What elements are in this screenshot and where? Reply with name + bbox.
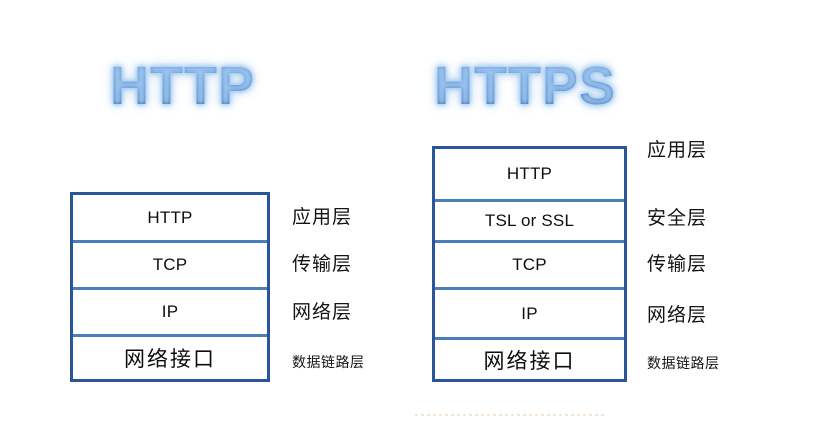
https-protocol-stack: HTTP TSL or SSL TCP IP 网络接口 [432, 146, 627, 382]
layer-label-https-application: 应用层 [647, 141, 707, 160]
layer-label-http-datalink: 数据链路层 [292, 356, 365, 370]
stack-row-https-datalink: 网络接口 [435, 340, 624, 379]
stack-row-http-transport: TCP [73, 243, 267, 290]
layer-label-https-security: 安全层 [647, 209, 707, 228]
http-diagram-title: HTTP [110, 59, 255, 113]
stack-row-http-application: HTTP [73, 195, 267, 243]
layer-label-https-network: 网络层 [647, 306, 707, 325]
http-protocol-stack: HTTP TCP IP 网络接口 [70, 192, 270, 382]
stack-row-https-network: IP [435, 290, 624, 340]
stack-row-http-datalink: 网络接口 [73, 337, 267, 379]
stack-row-https-security: TSL or SSL [435, 202, 624, 243]
layer-label-http-network: 网络层 [292, 303, 352, 322]
layer-label-https-transport: 传输层 [647, 255, 707, 274]
https-diagram-title: HTTPS [434, 59, 616, 113]
diagram-canvas: HTTP HTTPS HTTP TCP IP 网络接口 应用层 传输层 网络层 … [0, 0, 822, 427]
stack-row-https-transport: TCP [435, 243, 624, 290]
layer-label-http-transport: 传输层 [292, 255, 352, 274]
layer-label-http-application: 应用层 [292, 208, 352, 227]
layer-label-https-datalink: 数据链路层 [647, 357, 720, 371]
stack-row-https-application: HTTP [435, 149, 624, 202]
faint-watermark-trace [415, 414, 605, 416]
stack-row-http-network: IP [73, 290, 267, 337]
